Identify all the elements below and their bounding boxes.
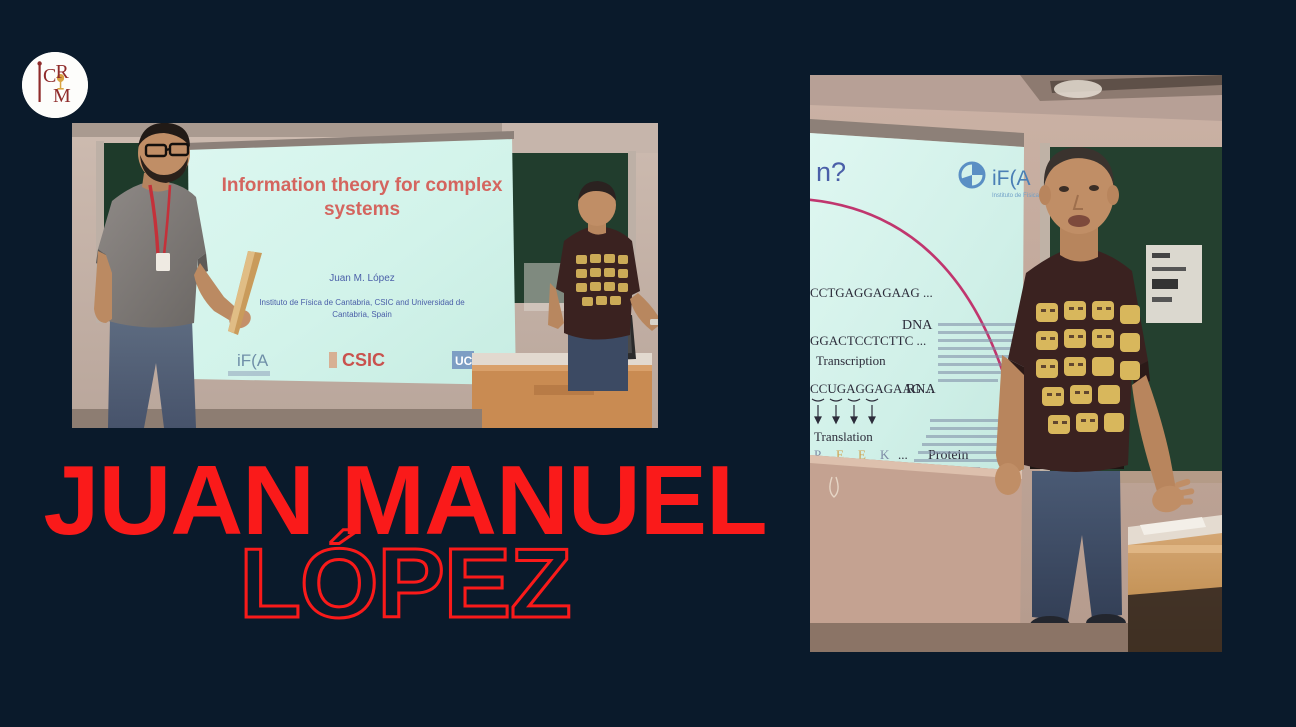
slide-author: Juan M. López [329, 273, 395, 284]
photo-right: n? iF(A Instituto de Física de Cantabria… [810, 75, 1222, 652]
crm-logo-graphic: C R M [22, 52, 88, 118]
photo-left-graphic: Information theory for complex systems J… [72, 123, 658, 428]
speaker-name-line2: LÓPEZ [0, 538, 822, 628]
crm-letter-m: M [53, 85, 71, 107]
slide-label-translation: Translation [814, 429, 873, 444]
slide-affiliation-1: Instituto de Física de Cantabria, CSIC a… [259, 298, 465, 307]
slide-dna-seq2: GGACTCCTCTTC ... [810, 333, 926, 348]
slide-logo-ifca-right: iF(A [992, 167, 1031, 190]
slide-affiliation-2: Cantabria, Spain [332, 310, 392, 319]
slide-label-transcription: Transcription [816, 353, 886, 368]
speaker-name-title: JUAN MANUEL LÓPEZ [0, 455, 810, 635]
crm-letter-c: C [43, 65, 56, 87]
slide-dna-seq1: CCTGAGGAGAAG ... [810, 285, 933, 300]
slide-logo-csic: CSIC [342, 350, 385, 370]
crm-logo: C R M [22, 52, 88, 118]
slide-protein-ellipsis: ... [898, 447, 908, 462]
slide-title-line1: Information theory for complex [222, 175, 503, 196]
slide-protein-k: K [880, 447, 890, 462]
slide-logo-ifca: iF(A [237, 351, 269, 370]
slide-heading-fragment: n? [816, 157, 846, 187]
slide-label-rna: RNA [906, 382, 936, 397]
slide-title-line2: systems [324, 199, 400, 220]
photo-left: Information theory for complex systems J… [72, 123, 658, 428]
slide-label-dna: DNA [902, 318, 933, 333]
photo-right-graphic: n? iF(A Instituto de Física de Cantabria… [810, 75, 1222, 652]
slide-logo-uc: UC [455, 354, 473, 368]
crm-letter-r: R [56, 61, 70, 83]
